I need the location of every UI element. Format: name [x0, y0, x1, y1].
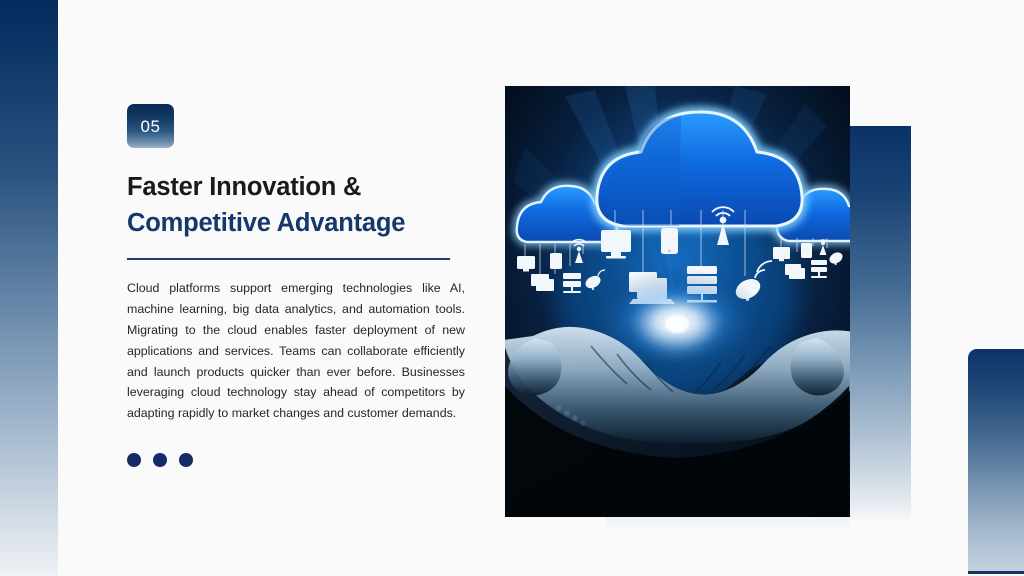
page-title: Faster Innovation & Competitive Advantag…	[127, 169, 465, 241]
smartphone-icon	[550, 253, 562, 269]
title-divider	[127, 258, 450, 260]
step-number-label: 05	[141, 118, 161, 135]
page-title-line-1: Faster Innovation &	[127, 169, 465, 205]
left-gradient-bar	[0, 0, 58, 576]
body-paragraph: Cloud platforms support emerging technol…	[127, 278, 465, 424]
slide-canvas: 05 Faster Innovation & Competitive Advan…	[0, 0, 1024, 576]
right-gradient-bar-tall	[850, 126, 911, 520]
tablet-right-icon	[801, 243, 812, 258]
pagination-dot-1[interactable]	[127, 453, 141, 467]
step-number-badge: 05	[127, 104, 174, 148]
text-column: 05 Faster Innovation & Competitive Advan…	[127, 104, 465, 467]
cloud-computing-photo	[505, 86, 850, 517]
photo-shadow	[606, 517, 850, 533]
right-gradient-bar-short	[968, 349, 1024, 574]
photo-artwork	[505, 86, 850, 517]
tablet-icon	[661, 228, 678, 254]
pagination-dots	[127, 453, 465, 467]
pagination-dot-2[interactable]	[153, 453, 167, 467]
page-title-line-2: Competitive Advantage	[127, 205, 465, 241]
pagination-dot-3[interactable]	[179, 453, 193, 467]
